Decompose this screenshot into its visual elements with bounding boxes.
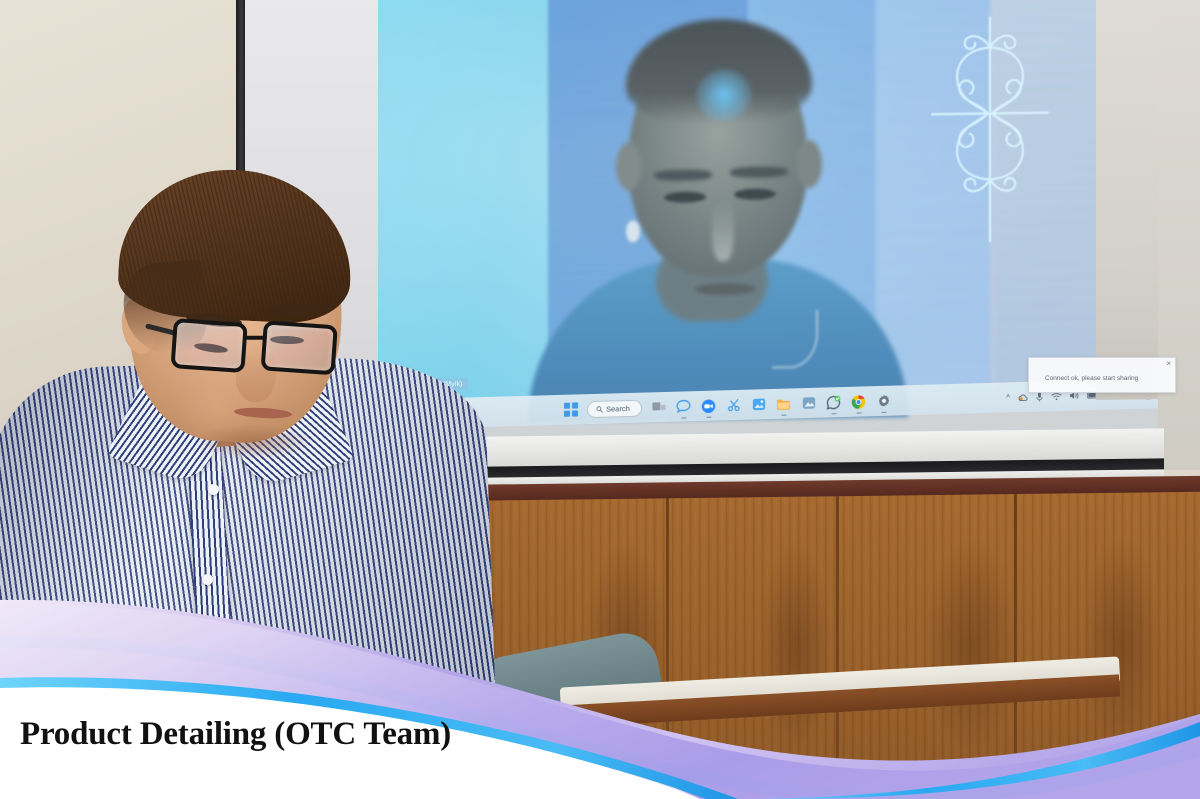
remote-participant-nose [712, 199, 734, 261]
presenter-glasses [164, 308, 354, 391]
whatsapp-icon[interactable] [826, 394, 842, 410]
wrought-iron-grille-icon [930, 9, 1050, 247]
screen-right-margin [1096, 0, 1158, 400]
taskbar-search-box[interactable]: Search [587, 399, 642, 418]
close-icon[interactable]: × [1166, 360, 1171, 368]
toast-message: Connect ok, please start sharing [1045, 375, 1138, 382]
chat-icon[interactable] [676, 398, 692, 414]
search-label: Search [606, 403, 630, 413]
zoom-icon[interactable] [701, 398, 717, 414]
chrome-icon[interactable] [851, 393, 867, 409]
shirt-button [208, 484, 219, 495]
wall-frame-edge [236, 0, 245, 190]
remote-participant-eyebrow [654, 169, 712, 181]
notification-toast: × Connect ok, please start sharing [1028, 357, 1176, 393]
onedrive-icon[interactable] [1017, 391, 1028, 402]
glasses-bridge [245, 336, 267, 340]
remote-participant-earbud [626, 220, 640, 242]
slide-canvas: Win Win Tun (Myik) Search [0, 0, 1200, 799]
remote-participant-eyebrow [730, 166, 788, 178]
page-title: Product Detailing (OTC Team) [20, 716, 451, 753]
media-player-icon[interactable] [801, 395, 817, 411]
file-explorer-icon[interactable] [776, 395, 792, 411]
glasses-lens [170, 318, 247, 373]
tray-overflow-icon[interactable]: ^ [1006, 393, 1010, 402]
glasses-lens [261, 320, 338, 375]
photos-icon[interactable] [751, 396, 767, 412]
task-view-icon[interactable] [651, 399, 667, 415]
presenter-chin-shadow [194, 424, 314, 460]
remote-participant-ear [616, 142, 642, 190]
start-button-icon[interactable] [564, 402, 578, 416]
presenter-figure [0, 186, 500, 706]
snipping-tool-icon[interactable] [726, 397, 742, 413]
search-icon [596, 405, 603, 412]
shirt-button [202, 574, 213, 585]
remote-participant-ear [796, 140, 822, 188]
settings-icon[interactable] [876, 393, 892, 409]
